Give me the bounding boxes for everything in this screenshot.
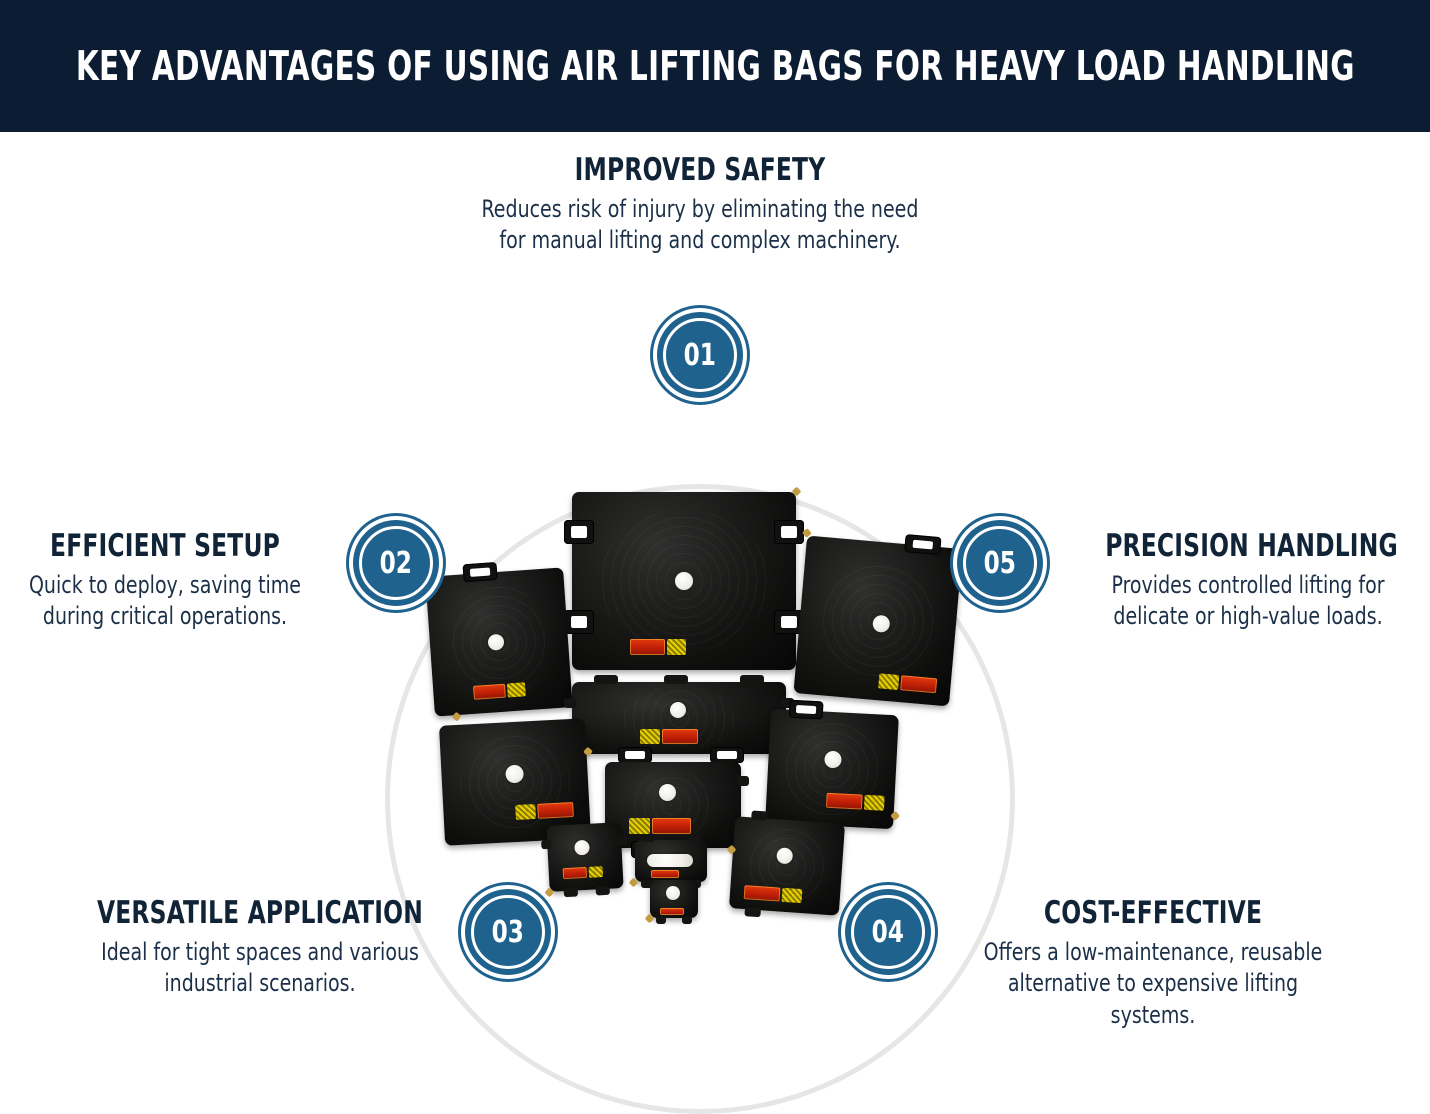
bag-lug	[656, 916, 666, 924]
bag-surface	[546, 822, 623, 892]
advantage-description-line: Provides controlled lifting for	[1098, 570, 1397, 602]
bag-brand-label	[515, 802, 574, 820]
bag-handle	[904, 534, 941, 555]
brand-plate-red	[473, 684, 506, 700]
badge-03[interactable]: 03	[465, 889, 551, 975]
bag-handle	[564, 520, 594, 544]
bag-brand-label	[826, 793, 885, 811]
bag-lug	[744, 907, 761, 917]
bag-handle	[774, 520, 804, 544]
lifting-bag-right-upper	[793, 536, 962, 707]
advantage-description-line: alternative to expensive lifting systems…	[964, 968, 1342, 1031]
advantage-description: Reduces risk of injury by eliminating th…	[436, 194, 964, 257]
bag-lug	[740, 675, 764, 684]
brand-plate-red	[563, 867, 588, 879]
brand-plate-yellow	[629, 818, 650, 834]
advantage-description-line: for manual lifting and complex machinery…	[436, 225, 964, 257]
brand-plate-yellow	[640, 729, 660, 744]
advantage-block-precision-handling: PRECISION HANDLING Provides controlled l…	[1078, 530, 1418, 633]
bag-handle	[789, 700, 824, 720]
lifting-bag-center-mid	[605, 762, 741, 848]
bag-lug	[541, 840, 551, 850]
brand-plate-yellow	[667, 639, 686, 655]
badge-ring: 04	[851, 895, 925, 969]
advantage-block-versatile-application: VERSATILE APPLICATION Ideal for tight sp…	[50, 897, 470, 1000]
advantage-description-line: Offers a low-maintenance, reusable	[964, 937, 1342, 969]
bag-valve	[647, 854, 693, 867]
lifting-bag-small-center	[635, 840, 707, 882]
brand-plate-red	[652, 818, 691, 834]
advantage-description: Quick to deploy, saving time during crit…	[20, 570, 310, 633]
brand-plate-red	[900, 675, 937, 693]
bag-lug	[751, 810, 768, 820]
brand-plate-yellow	[515, 804, 535, 820]
advantage-title: IMPROVED SAFETY	[448, 154, 952, 187]
advantage-description-line: Ideal for tight spaces and various	[75, 937, 445, 969]
lifting-bag-large-center	[572, 492, 796, 670]
advantage-description: Ideal for tight spaces and various indus…	[75, 937, 445, 1000]
badge-ring: 01	[663, 318, 737, 392]
bag-brand-label	[660, 908, 684, 915]
brand-plate-red	[660, 908, 684, 915]
advantage-block-improved-safety: IMPROVED SAFETY Reduces risk of injury b…	[400, 154, 1000, 257]
advantage-description-line: Quick to deploy, saving time	[20, 570, 310, 602]
lifting-bag-left-upper	[425, 567, 572, 716]
bag-handle	[710, 747, 744, 763]
bag-lug	[564, 887, 578, 897]
bag-handle	[564, 610, 594, 634]
advantage-title: PRECISION HANDLING	[1105, 530, 1391, 563]
advantage-block-cost-effective: COST-EFFECTIVE Offers a low-maintenance,…	[938, 897, 1368, 1032]
header-bar: KEY ADVANTAGES OF USING AIR LIFTING BAGS…	[0, 0, 1430, 132]
badge-number: 04	[872, 915, 904, 950]
brand-plate-yellow	[878, 673, 899, 690]
lifting-bag-right-lower	[729, 816, 845, 915]
bag-handle	[618, 747, 652, 763]
advantage-title: COST-EFFECTIVE	[972, 897, 1333, 930]
bag-lug	[737, 776, 749, 786]
advantage-description-line: Reduces risk of injury by eliminating th…	[436, 194, 964, 226]
bag-handle	[462, 562, 497, 582]
lifting-bag-long-narrow	[572, 682, 786, 754]
bag-brand-label	[640, 729, 698, 744]
advantage-description: Offers a low-maintenance, reusable alter…	[964, 937, 1342, 1032]
advantage-title: EFFICIENT SETUP	[26, 530, 303, 563]
brand-plate-yellow	[589, 866, 603, 878]
badge-number: 02	[380, 546, 412, 581]
brand-plate-red	[744, 885, 781, 901]
advantage-description-line: during critical operations.	[20, 601, 310, 633]
brand-plate-red	[537, 802, 574, 819]
badge-04[interactable]: 04	[845, 889, 931, 975]
lifting-bag-right-mid	[765, 709, 899, 830]
bag-lug	[617, 836, 627, 846]
brand-plate-red	[826, 793, 863, 810]
brand-plate-yellow	[782, 888, 803, 903]
advantage-title: VERSATILE APPLICATION	[84, 897, 437, 930]
badge-ring: 05	[963, 526, 1037, 600]
bag-brand-label	[651, 870, 679, 878]
bag-brand-label	[630, 639, 686, 655]
advantage-description-line: delicate or high-value loads.	[1098, 601, 1397, 633]
bag-brand-label	[563, 866, 604, 879]
air-lifting-bags-product-photo	[400, 432, 1000, 902]
badge-05[interactable]: 05	[957, 520, 1043, 606]
brand-plate-red	[630, 639, 665, 655]
bag-valve	[574, 840, 590, 856]
bag-lug	[564, 698, 576, 708]
bag-lug	[664, 675, 688, 684]
brand-plate-red	[651, 870, 679, 878]
bag-valve	[675, 572, 693, 590]
bag-brand-label	[629, 818, 691, 834]
brand-plate-red	[662, 729, 698, 744]
advantage-description: Provides controlled lifting for delicate…	[1098, 570, 1397, 633]
badge-ring: 03	[471, 895, 545, 969]
bag-lug	[596, 886, 610, 896]
badge-number: 03	[492, 915, 524, 950]
page-title: KEY ADVANTAGES OF USING AIR LIFTING BAGS…	[76, 42, 1355, 90]
badge-number: 05	[984, 546, 1016, 581]
infographic-stage: 01 02 03 04 05 IMPROVED SAFETY Reduces r…	[0, 132, 1430, 1105]
badge-ring: 02	[359, 526, 433, 600]
brand-plate-yellow	[507, 682, 526, 697]
badge-02[interactable]: 02	[353, 520, 439, 606]
bag-lug	[641, 834, 655, 842]
bag-lug	[594, 675, 618, 684]
lifting-bag-small-left	[546, 822, 623, 892]
badge-number: 01	[684, 338, 716, 373]
advantage-description-line: industrial scenarios.	[75, 968, 445, 1000]
bag-lug	[682, 916, 692, 924]
bag-lug	[687, 834, 701, 842]
badge-01[interactable]: 01	[657, 312, 743, 398]
lifting-bag-smallest	[650, 880, 698, 918]
brand-plate-yellow	[864, 795, 884, 811]
advantage-block-efficient-setup: EFFICIENT SETUP Quick to deploy, saving …	[0, 530, 330, 633]
